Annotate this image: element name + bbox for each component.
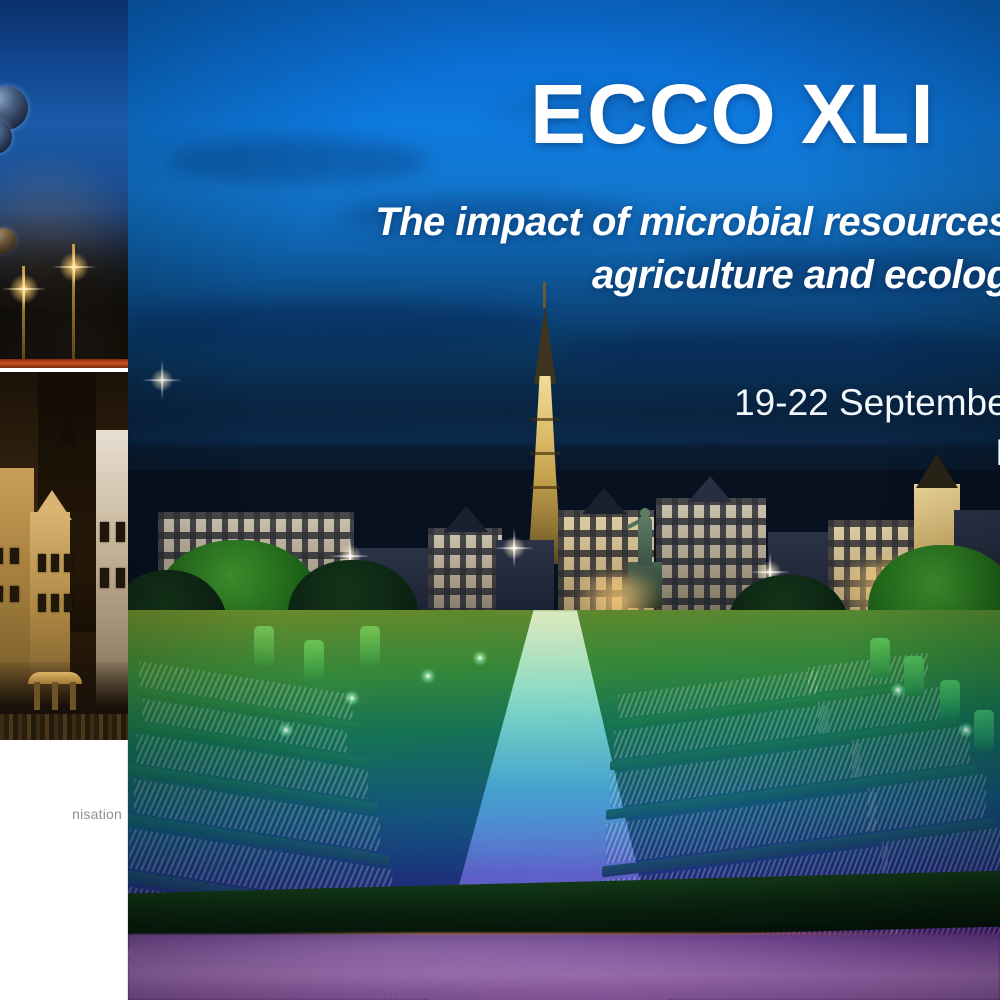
roof-gable — [688, 476, 732, 502]
atomium-dusk-photo — [0, 0, 128, 368]
spire-cone — [534, 306, 556, 384]
cloud — [128, 300, 548, 352]
left-white-panel: nisation — [0, 740, 128, 1000]
window — [116, 568, 125, 588]
left-column: nisation — [0, 0, 128, 1000]
illuminated-parterre-garden — [128, 610, 1000, 1000]
gothic-spire-icon — [58, 372, 76, 446]
window — [10, 586, 19, 602]
light-flare-icon — [501, 535, 527, 561]
red-band-divider — [0, 359, 128, 368]
window — [51, 554, 59, 572]
stall-post — [34, 682, 40, 710]
equestrian-statue — [638, 516, 652, 566]
statue-head — [640, 508, 650, 518]
lamp-flare-icon — [57, 250, 91, 284]
window — [0, 586, 3, 602]
window — [38, 594, 46, 612]
panel-caption-text: nisation — [72, 806, 122, 822]
window — [64, 554, 72, 572]
lamp-flare-icon — [7, 272, 41, 306]
cloud — [558, 330, 1000, 378]
subtitle-line-1: The impact of microbial resources — [375, 200, 1000, 244]
roof-dome — [582, 488, 626, 514]
date-text: 19-22 September — [734, 382, 1000, 423]
subtitle-line-2: agriculture and ecolog — [150, 249, 1000, 302]
location-text: B — [400, 428, 1000, 478]
plaza-sheen — [128, 934, 1000, 1000]
window — [116, 522, 125, 542]
window — [100, 522, 109, 542]
cloud — [168, 138, 428, 184]
roof-gable — [444, 506, 488, 532]
crowd-silhouettes — [0, 714, 128, 740]
window — [100, 568, 109, 588]
light-flare-icon — [149, 367, 175, 393]
poster-subtitle: The impact of microbial resources agricu… — [150, 196, 1000, 302]
grand-place-facades-photo — [0, 372, 128, 740]
window — [10, 548, 19, 564]
poster-image: nisation — [0, 0, 1000, 1000]
window — [51, 594, 59, 612]
stall-post — [70, 682, 76, 710]
poster-dateline: 19-22 September B — [400, 378, 1000, 478]
window — [0, 548, 3, 564]
window — [64, 594, 72, 612]
stall-post — [52, 682, 58, 710]
poster-title: ECCO XLI — [530, 72, 935, 156]
window — [38, 554, 46, 572]
